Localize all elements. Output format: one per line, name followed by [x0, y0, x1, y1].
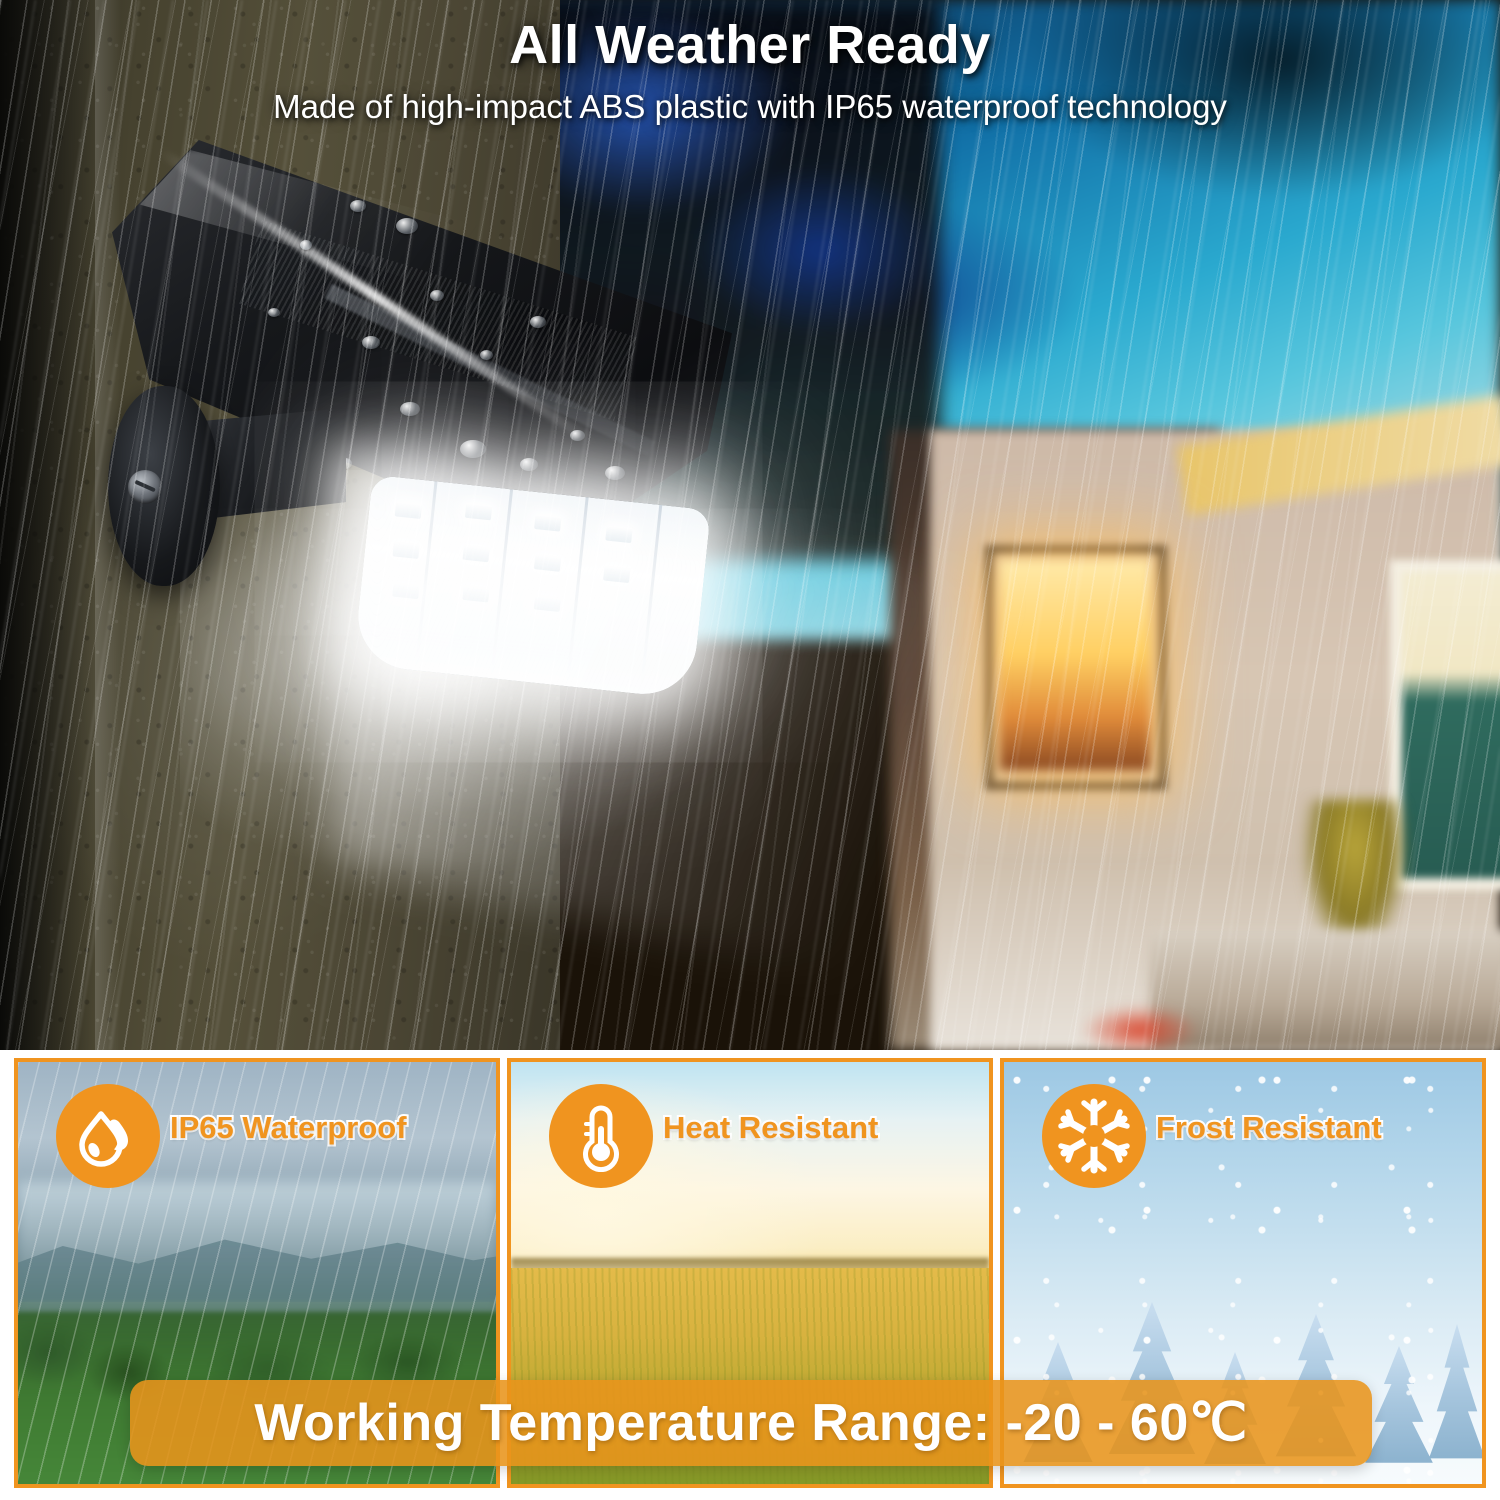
product-feature-image: All Weather Ready Made of high-impact AB…	[0, 0, 1500, 1500]
lit-window	[1000, 560, 1150, 770]
led-diffuser-lens	[353, 475, 711, 699]
feature-card-label: Heat Resistant	[663, 1110, 878, 1146]
working-temperature-banner: Working Temperature Range: -20 - 60℃	[130, 1380, 1372, 1466]
red-ground-accent	[1080, 1005, 1200, 1050]
water-droplet	[520, 458, 538, 471]
water-droplet	[400, 402, 420, 416]
mounting-screw	[128, 470, 162, 504]
page-subtitle: Made of high-impact ABS plastic with IP6…	[0, 88, 1500, 126]
water-droplet	[300, 240, 312, 250]
water-droplet	[460, 440, 486, 458]
page-title: All Weather Ready	[0, 14, 1500, 76]
wall-shadow	[0, 0, 95, 1050]
water-drop-icon	[56, 1084, 160, 1188]
porch-steps	[1150, 930, 1500, 1050]
water-droplet	[480, 350, 493, 360]
thermometer-icon	[549, 1084, 653, 1188]
solar-wall-light-product	[100, 140, 740, 660]
wall-mount-plate	[108, 386, 220, 586]
water-droplet	[350, 200, 366, 212]
water-droplet	[362, 336, 380, 349]
feature-card-label: Frost Resistant	[1156, 1110, 1382, 1146]
water-droplet	[396, 218, 418, 234]
hero-scene: All Weather Ready Made of high-impact AB…	[0, 0, 1500, 1050]
water-droplet	[530, 316, 546, 328]
feature-card-label: IP65 Waterproof	[170, 1110, 407, 1146]
working-temperature-text: Working Temperature Range: -20 - 60℃	[254, 1393, 1247, 1453]
water-droplet	[570, 430, 585, 441]
water-droplet	[605, 466, 625, 480]
led-light-panel	[353, 475, 711, 699]
snowflake-icon	[1042, 1084, 1146, 1188]
water-droplet	[430, 290, 444, 301]
water-droplet	[268, 308, 280, 317]
